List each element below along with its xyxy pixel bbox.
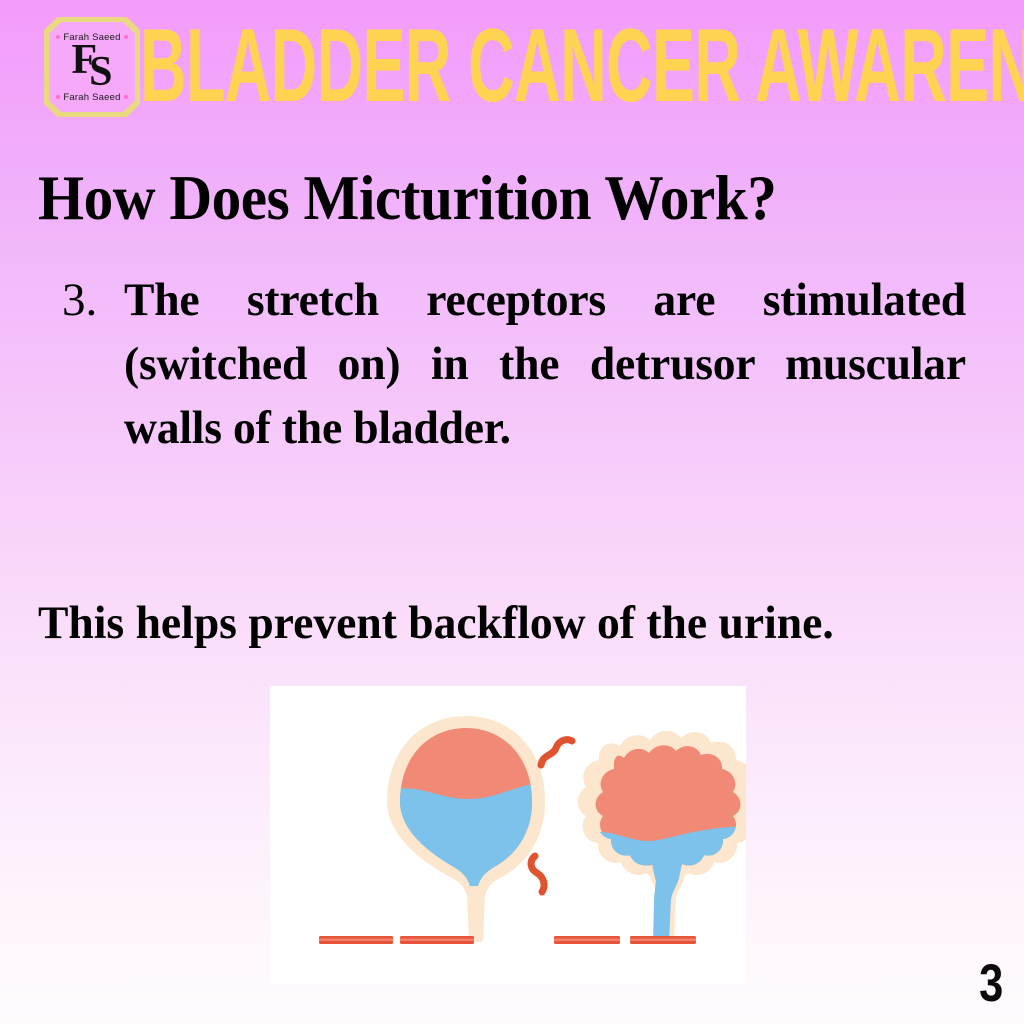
- list-item-text: The stretch receptors are stimulated (sw…: [124, 268, 966, 460]
- banner-title: BLADDER CANCER AWARENESS: [140, 18, 683, 114]
- logo-dot-icon: [56, 95, 60, 99]
- list-item: 3. The stretch receptors are stimulated …: [62, 268, 992, 460]
- logo-monogram-s: S: [89, 49, 110, 95]
- squiggle-bottom-left-icon: [531, 856, 544, 892]
- relaxed-bladder-figure: [319, 716, 545, 956]
- closing-paragraph: This helps prevent backflow of the urine…: [38, 592, 961, 655]
- bladder-urine-left: [394, 783, 540, 956]
- logo-monogram: FS: [44, 37, 140, 95]
- logo-tagline-bottom-text: Farah Saeed: [63, 92, 120, 103]
- page-number: 3: [979, 956, 1002, 1012]
- numbered-list: 3. The stretch receptors are stimulated …: [62, 268, 992, 460]
- bladder-diagram-icon: [270, 686, 746, 984]
- header-banner: Farah Saeed FS Farah Saeed BLADDER CANCE…: [0, 0, 1024, 132]
- page-title: How Does Micturition Work?: [38, 160, 931, 236]
- slide-canvas: Farah Saeed FS Farah Saeed BLADDER CANCE…: [0, 0, 1024, 1024]
- logo-dot-icon: [124, 95, 128, 99]
- brand-logo: Farah Saeed FS Farah Saeed: [44, 17, 140, 117]
- sphincter-left: [319, 936, 474, 944]
- squiggle-top-left-icon: [541, 740, 572, 765]
- logo-tagline-bottom: Farah Saeed: [44, 92, 140, 103]
- bladder-illustration-panel: [270, 686, 746, 984]
- sphincter-right: [554, 936, 696, 944]
- list-item-marker: 3.: [62, 268, 124, 332]
- urethra-left: [470, 886, 482, 942]
- contracted-bladder-figure: [531, 731, 746, 956]
